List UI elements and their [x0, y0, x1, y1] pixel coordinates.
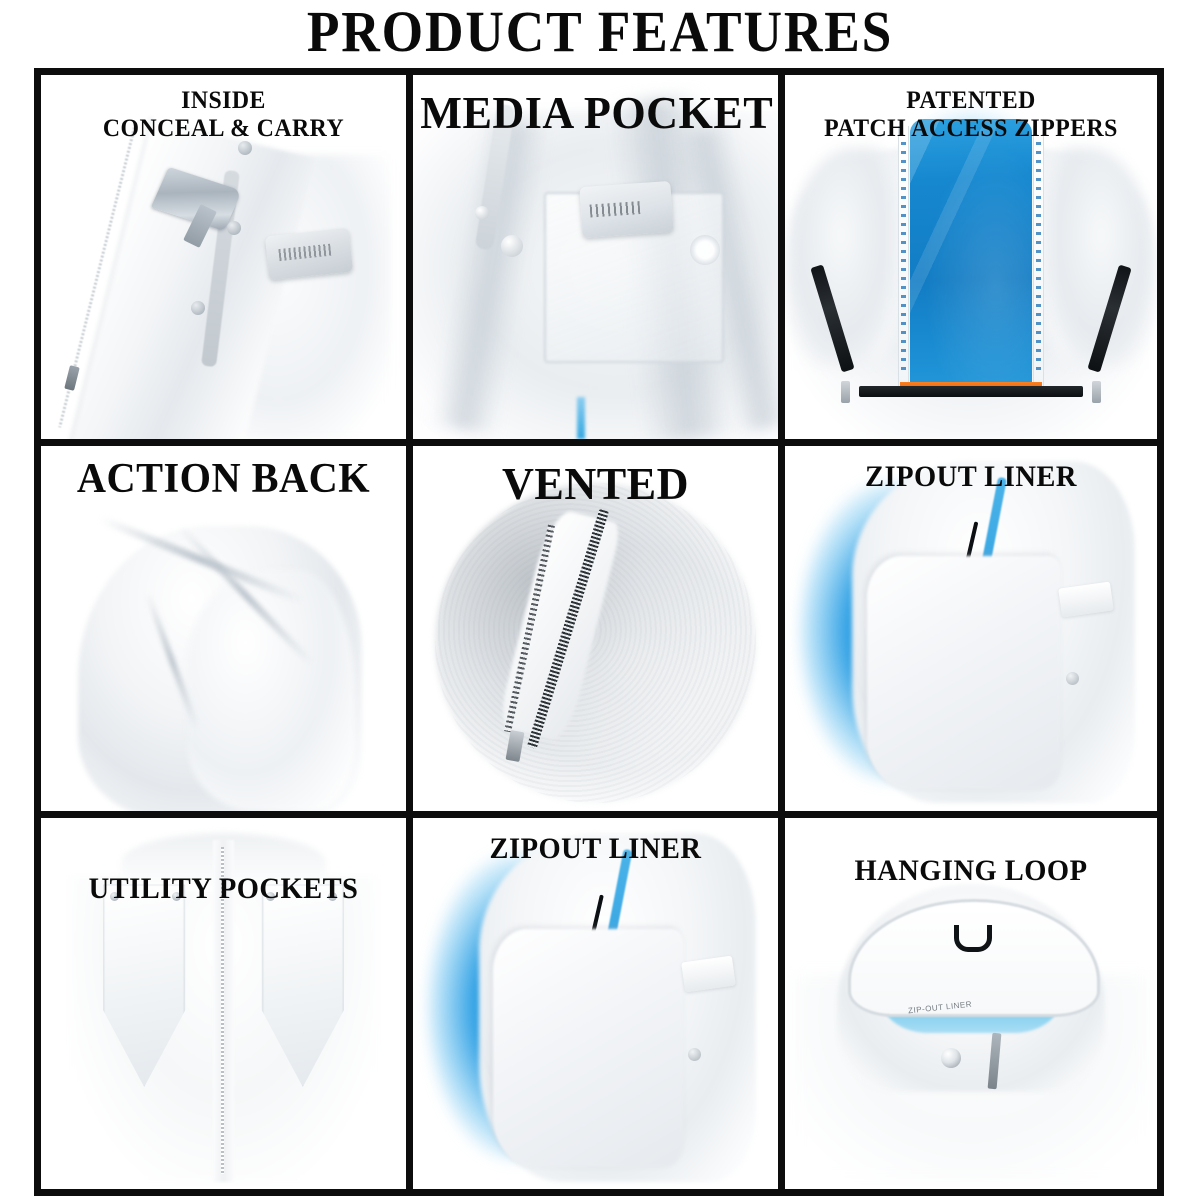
- product-features-sheet: PRODUCT FEATURES: [0, 0, 1200, 1200]
- feature-title-inside-conceal-carry: INSIDE CONCEAL & CARRY: [50, 87, 397, 143]
- feature-cell-inside-conceal-carry[interactable]: INSIDE CONCEAL & CARRY: [41, 75, 413, 446]
- feature-title-vented: VENTED: [420, 458, 770, 510]
- feature-title-line-1: ZIPOUT LINER: [794, 460, 1147, 494]
- feature-image-zipout-liner-right: [785, 446, 1157, 810]
- feature-title-line-1: INSIDE: [50, 87, 397, 115]
- hanging-loop-icon: [954, 925, 992, 952]
- feature-cell-vented[interactable]: VENTED: [413, 446, 785, 817]
- feature-title-line-1: VENTED: [420, 458, 770, 510]
- features-grid: INSIDE CONCEAL & CARRY MEDIA POCKET: [34, 68, 1164, 1196]
- feature-title-line-2: CONCEAL & CARRY: [50, 115, 397, 143]
- feature-title-utility-pockets: UTILITY POCKETS: [50, 872, 397, 906]
- feature-cell-action-back[interactable]: ACTION BACK: [41, 446, 413, 817]
- feature-title-line-2: PATCH ACCESS ZIPPERS: [794, 115, 1147, 143]
- feature-title-patch-access-zippers: PATENTED PATCH ACCESS ZIPPERS: [794, 87, 1147, 143]
- page-title: PRODUCT FEATURES: [48, 2, 1152, 62]
- feature-title-line-1: ACTION BACK: [48, 456, 398, 503]
- feature-cell-utility-pockets[interactable]: UTILITY POCKETS: [41, 818, 413, 1189]
- feature-title-action-back: ACTION BACK: [48, 456, 398, 503]
- feature-title-line-1: HANGING LOOP: [794, 854, 1147, 888]
- feature-title-media-pocket: MEDIA POCKET: [420, 87, 770, 139]
- feature-title-line-1: MEDIA POCKET: [420, 87, 770, 139]
- feature-cell-media-pocket[interactable]: MEDIA POCKET: [413, 75, 785, 446]
- feature-image-zipout-liner-bottom: [413, 818, 778, 1189]
- feature-cell-zipout-liner-right[interactable]: ZIPOUT LINER: [785, 446, 1157, 817]
- feature-title-zipout-liner-bottom: ZIPOUT LINER: [422, 832, 769, 866]
- feature-title-line-1: PATENTED: [794, 87, 1147, 115]
- feature-cell-zipout-liner-bottom[interactable]: ZIPOUT LINER: [413, 818, 785, 1189]
- feature-title-hanging-loop: HANGING LOOP: [794, 854, 1147, 888]
- feature-title-zipout-liner-right: ZIPOUT LINER: [794, 460, 1147, 494]
- feature-title-line-1: UTILITY POCKETS: [50, 872, 397, 906]
- feature-title-line-1: ZIPOUT LINER: [422, 832, 769, 866]
- feature-cell-hanging-loop[interactable]: ZIP-OUT LINER HANGING LOOP: [785, 818, 1157, 1189]
- feature-cell-patch-access-zippers[interactable]: PATENTED PATCH ACCESS ZIPPERS: [785, 75, 1157, 446]
